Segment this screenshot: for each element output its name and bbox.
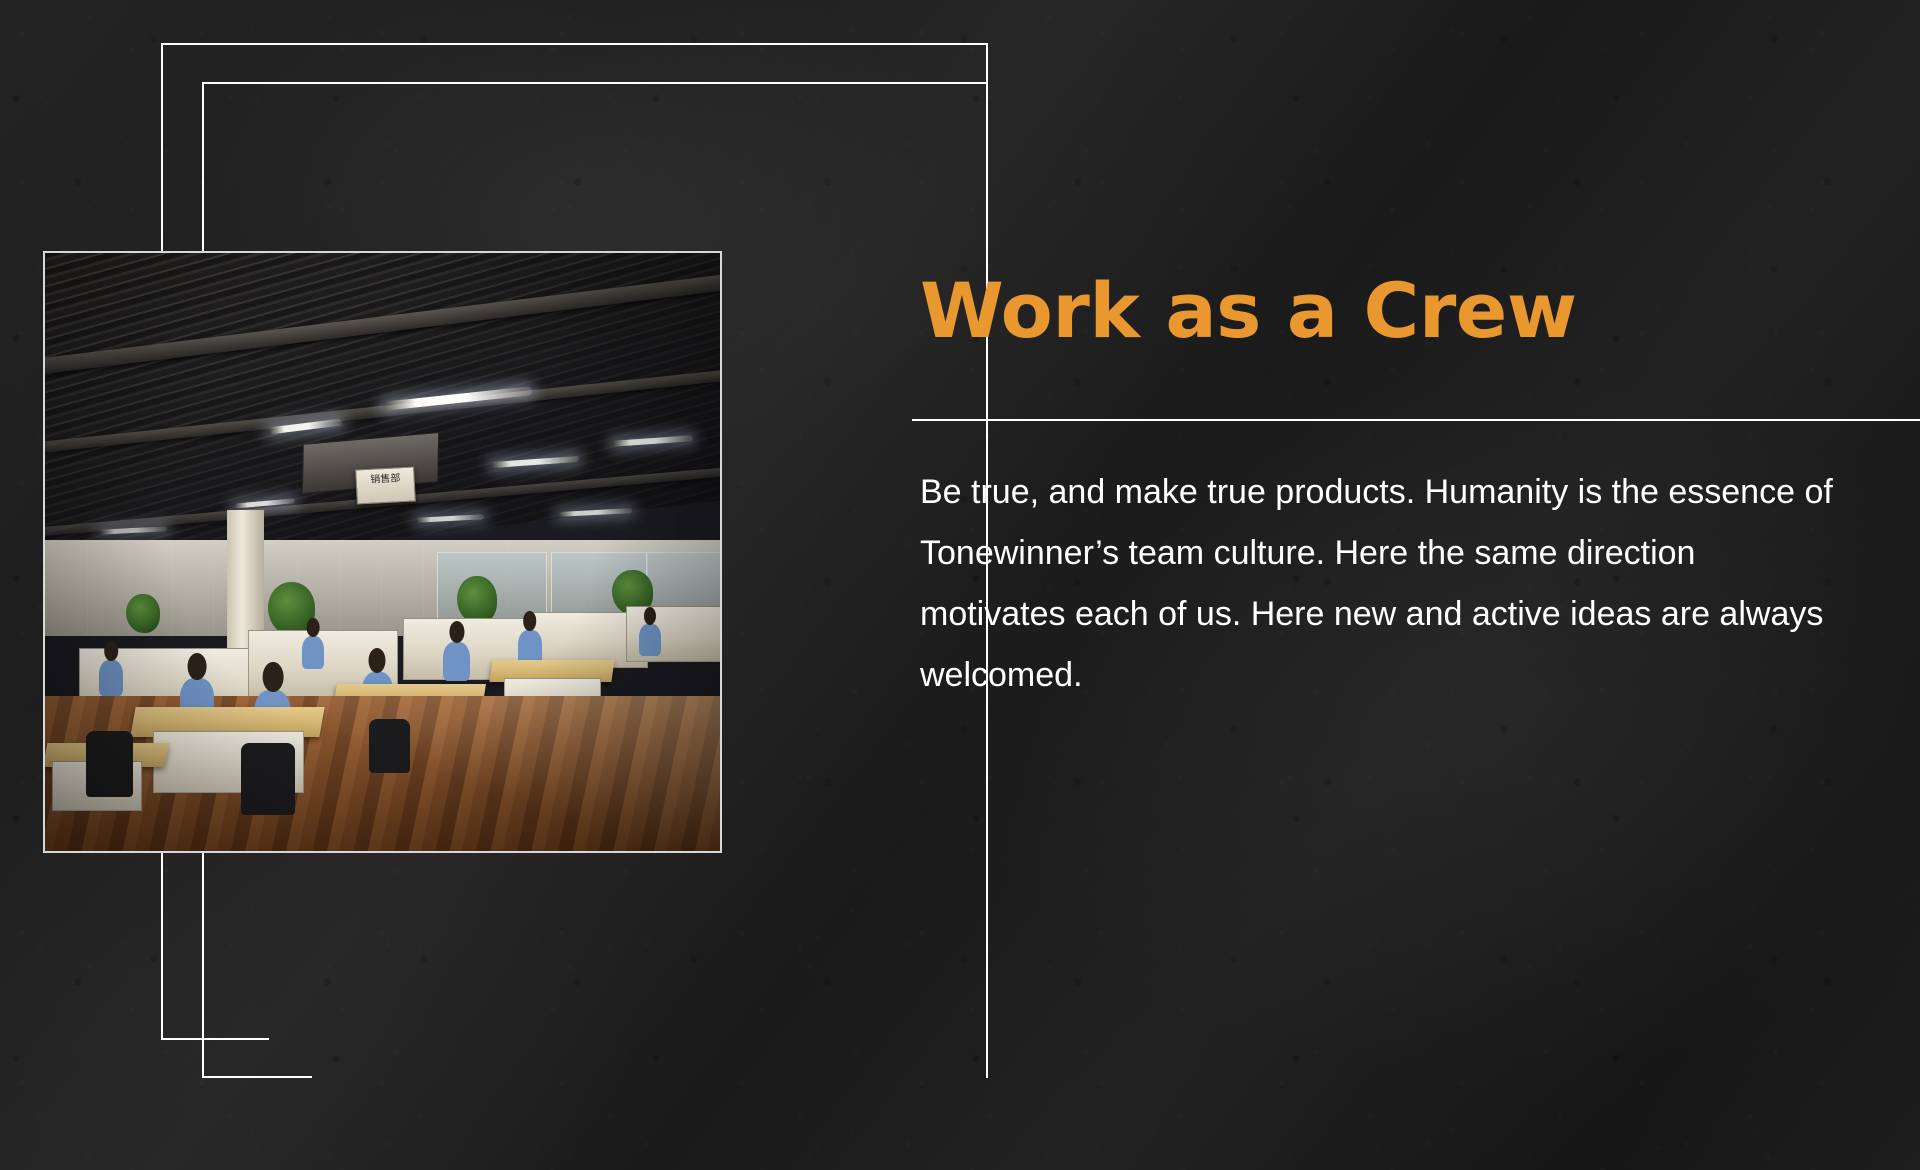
office-photo: 销售部 <box>43 251 722 853</box>
title-divider <box>912 419 1920 421</box>
slide-canvas: 销售部 <box>0 0 1920 1170</box>
page-title: Work as a Crew <box>920 266 1577 355</box>
photo-vignette <box>45 253 720 851</box>
decor-inner-frame-foot <box>202 1076 312 1078</box>
body-paragraph: Be true, and make true products. Humanit… <box>920 462 1840 706</box>
decor-outer-frame-foot <box>161 1038 269 1040</box>
office-photo-content: 销售部 <box>45 253 720 851</box>
